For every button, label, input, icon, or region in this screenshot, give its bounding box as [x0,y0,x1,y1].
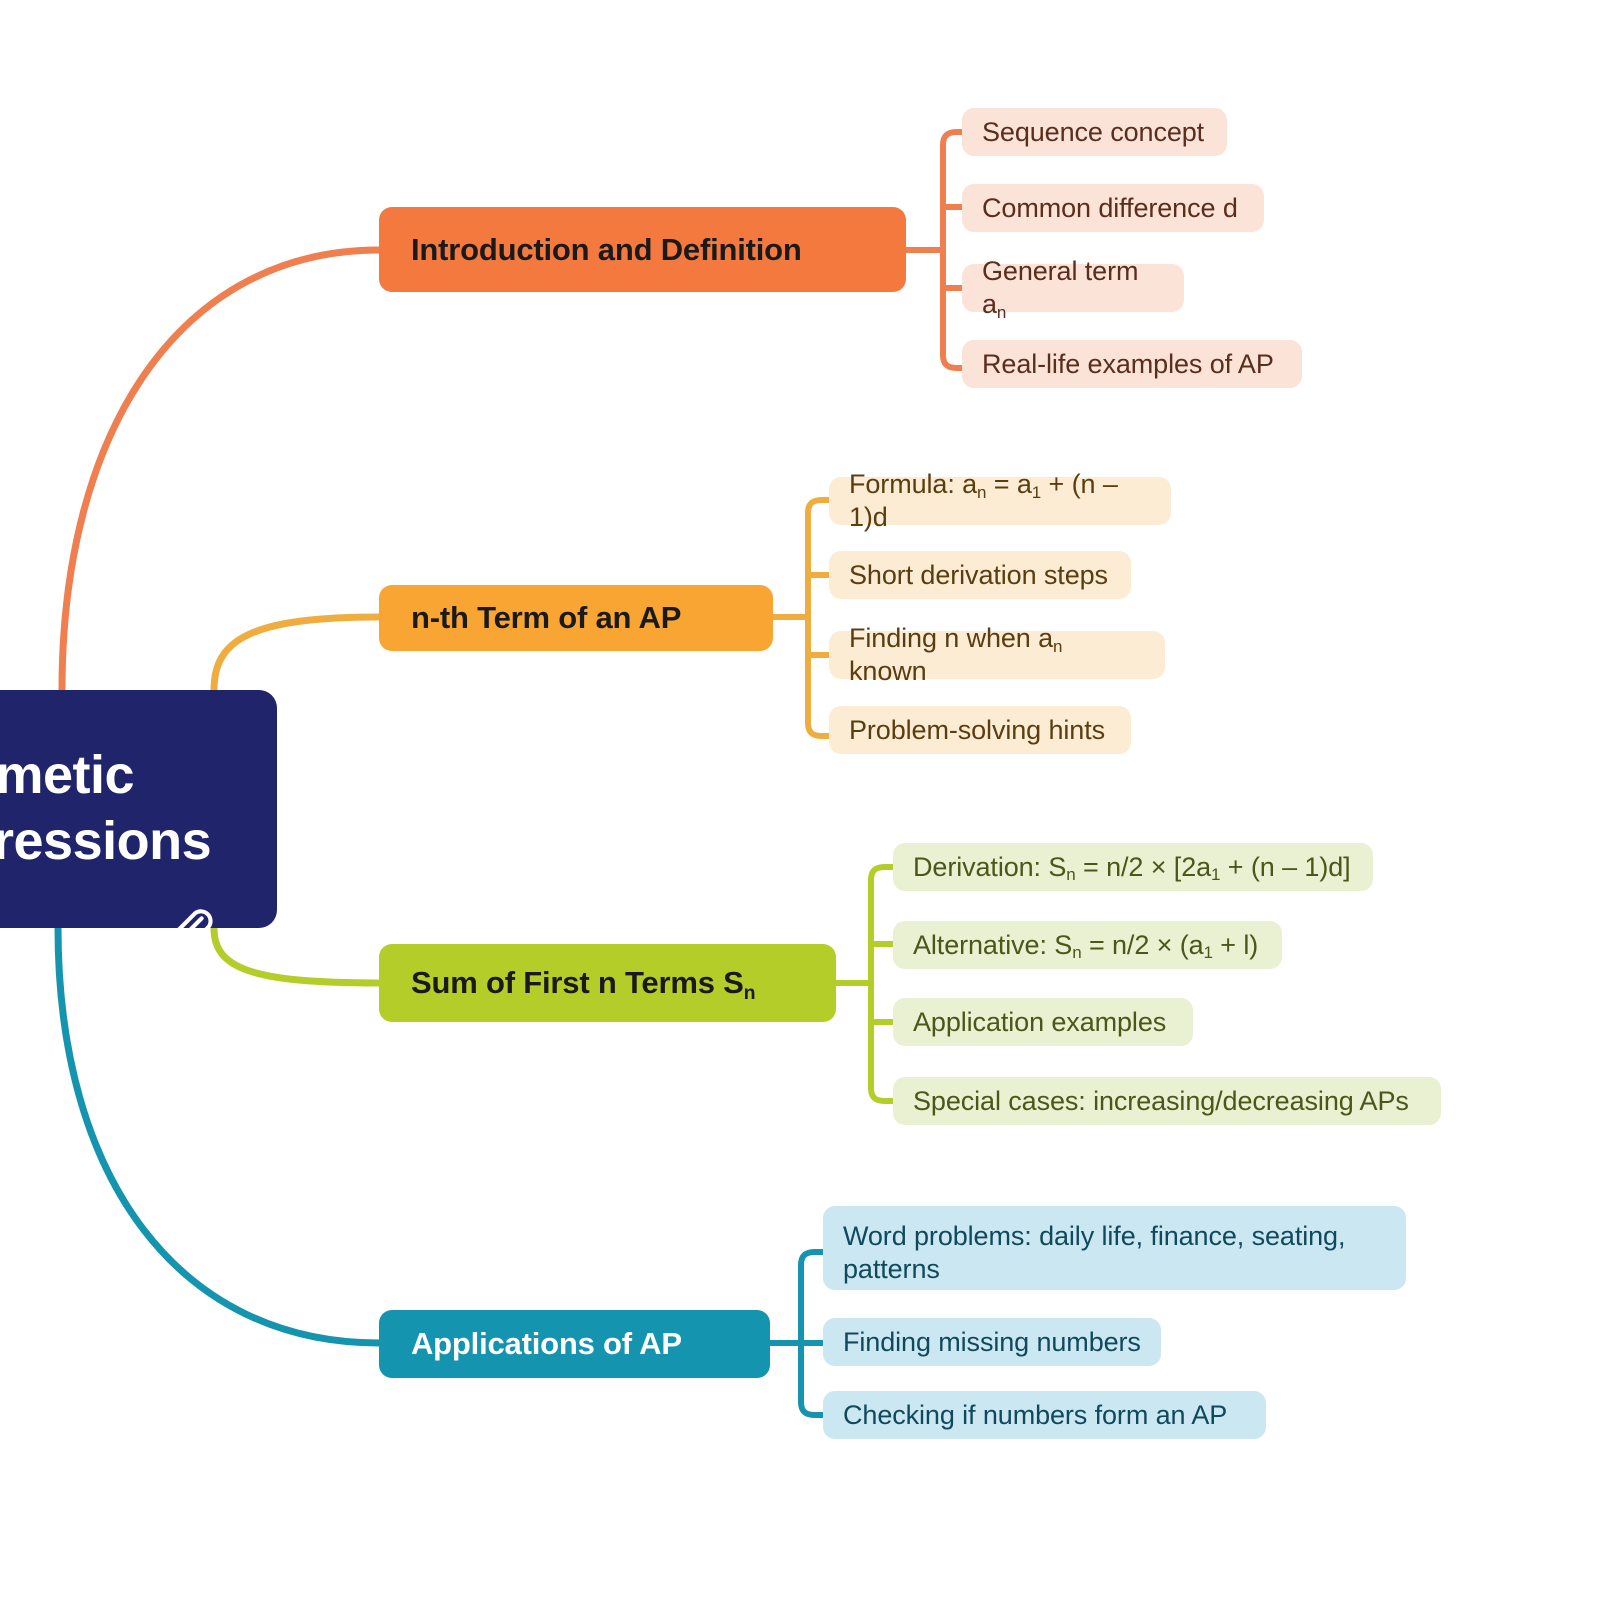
bracket-applications [770,1252,823,1415]
leaf-label: Common difference d [982,192,1238,225]
leaf-sequence-concept[interactable]: Sequence concept [962,108,1227,156]
leaf-label: Word problems: daily life, finance, seat… [843,1220,1345,1286]
leaf-problem-solving-hints[interactable]: Problem-solving hints [829,706,1131,754]
branch-applications[interactable]: Applications of AP [379,1310,770,1378]
leaf-application-examples[interactable]: Application examples [893,998,1193,1046]
branch-introduction[interactable]: Introduction and Definition [379,207,906,292]
branch-sum-label: Sum of First n Terms Sn [411,964,755,1002]
leaf-label: Sequence concept [982,116,1204,149]
leaf-general-term[interactable]: General term an [962,264,1184,312]
paperclip-icon[interactable] [161,768,219,826]
branch-sum-n-terms[interactable]: Sum of First n Terms Sn [379,944,836,1022]
branch-introduction-label: Introduction and Definition [411,231,802,269]
leaf-common-difference[interactable]: Common difference d [962,184,1264,232]
leaf-label: Formula: an = a1 + (n – 1)d [849,468,1151,534]
branch-nth-term-label: n-th Term of an AP [411,599,681,637]
leaf-real-life-examples[interactable]: Real-life examples of AP [962,340,1302,388]
leaf-checking-ap[interactable]: Checking if numbers form an AP [823,1391,1266,1439]
branch-applications-label: Applications of AP [411,1325,682,1363]
leaf-formula[interactable]: Formula: an = a1 + (n – 1)d [829,477,1171,525]
leaf-label: Special cases: increasing/decreasing APs [913,1085,1409,1118]
edge-root-nth-term [214,617,379,690]
leaf-finding-n[interactable]: Finding n when an known [829,631,1165,679]
leaf-label: Short derivation steps [849,559,1108,592]
root-node[interactable]: Arithmetic Progressions [0,690,277,928]
leaf-short-derivation[interactable]: Short derivation steps [829,551,1131,599]
leaf-special-cases[interactable]: Special cases: increasing/decreasing APs [893,1077,1441,1125]
edge-root-sum [214,928,379,983]
leaf-label: Real-life examples of AP [982,348,1274,381]
mindmap-canvas: Arithmetic Progressions Introduction and… [0,0,1600,1623]
leaf-derivation-sum[interactable]: Derivation: Sn = n/2 × [2a1 + (n – 1)d] [893,843,1373,891]
bracket-introduction [906,132,962,368]
leaf-label: Derivation: Sn = n/2 × [2a1 + (n – 1)d] [913,851,1351,884]
leaf-label: Problem-solving hints [849,714,1105,747]
leaf-label: Alternative: Sn = n/2 × (a1 + l) [913,929,1258,962]
leaf-word-problems[interactable]: Word problems: daily life, finance, seat… [823,1206,1406,1290]
edge-root-introduction [62,250,379,690]
leaf-label: Application examples [913,1006,1166,1039]
branch-nth-term[interactable]: n-th Term of an AP [379,585,773,651]
leaf-finding-missing-numbers[interactable]: Finding missing numbers [823,1318,1161,1366]
bracket-nth-term [773,500,829,736]
leaf-label: General term an [982,255,1164,321]
leaf-label: Finding n when an known [849,622,1145,688]
leaf-label: Finding missing numbers [843,1326,1141,1359]
bracket-sum [836,867,893,1101]
leaf-alternative-sum[interactable]: Alternative: Sn = n/2 × (a1 + l) [893,921,1282,969]
leaf-label: Checking if numbers form an AP [843,1399,1227,1432]
